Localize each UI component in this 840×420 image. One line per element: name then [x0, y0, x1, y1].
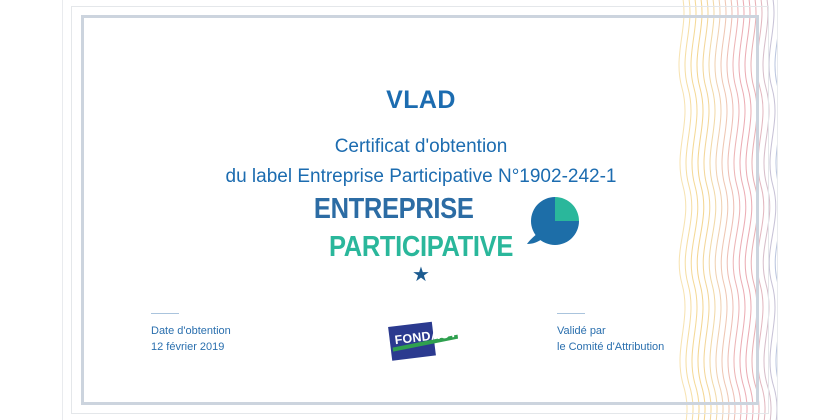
- company-name: VLAD: [63, 86, 778, 115]
- certificate-content: VLAD Certificat d'obtention du label Ent…: [63, 0, 778, 420]
- validated-by-value: le Comité d'Attribution: [557, 339, 664, 355]
- screenshot-canvas: VLAD Certificat d'obtention du label Ent…: [0, 0, 840, 420]
- footer-rule-left: [151, 313, 179, 314]
- footer-date-block: Date d'obtention 12 février 2019: [151, 313, 231, 355]
- fondact-logo: FONDACT: [374, 318, 470, 364]
- star-icon: ★: [63, 265, 778, 285]
- entreprise-participative-logo: ENTREPRISE PARTICIPATIVE ★: [63, 193, 778, 298]
- logo-wordmark-participative: PARTICIPATIVE: [106, 231, 736, 264]
- certificate-statement-line-2: du label Entreprise Participative N°1902…: [63, 162, 778, 192]
- date-value: 12 février 2019: [151, 339, 231, 355]
- footer-validation-block: Validé par le Comité d'Attribution: [557, 313, 664, 355]
- logo-wordmark-entreprise: ENTREPRISE: [106, 193, 736, 226]
- certificate-page: VLAD Certificat d'obtention du label Ent…: [62, 0, 778, 420]
- certificate-statement: Certificat d'obtention du label Entrepri…: [63, 132, 778, 192]
- certificate-statement-line-1: Certificat d'obtention: [63, 132, 778, 162]
- validated-by-label: Validé par: [557, 323, 664, 339]
- date-label: Date d'obtention: [151, 323, 231, 339]
- footer-rule-right: [557, 313, 585, 314]
